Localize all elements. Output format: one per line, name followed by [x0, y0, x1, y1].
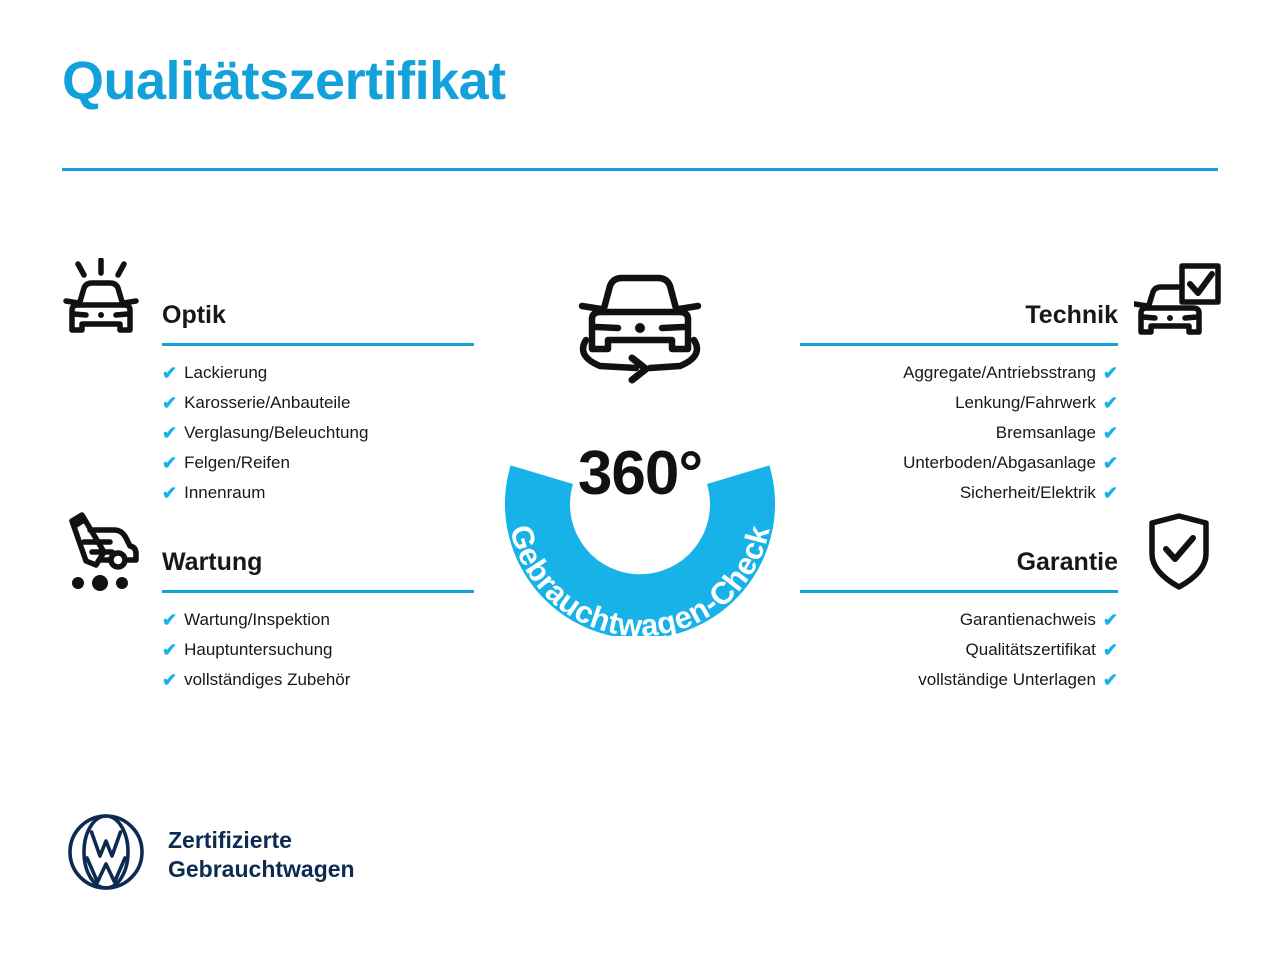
- title-divider: [62, 168, 1218, 171]
- section-title-garantie: Garantie: [800, 547, 1118, 577]
- car-front-lights-icon: [62, 258, 140, 349]
- page-title: Qualitätszertifikat: [62, 52, 506, 111]
- section-title-optik: Optik: [162, 300, 474, 330]
- list-item: Sicherheit/Elektrik✔: [800, 478, 1118, 508]
- list-item-label: Wartung/Inspektion: [184, 605, 330, 635]
- vw-logo: [66, 812, 146, 897]
- check-icon: ✔: [1103, 358, 1118, 388]
- check-icon: ✔: [162, 388, 177, 418]
- check-icon: ✔: [1103, 635, 1118, 665]
- check-icon: ✔: [1103, 448, 1118, 478]
- list-item-label: Garantienachweis: [960, 605, 1096, 635]
- check-icon: ✔: [162, 418, 177, 448]
- list-item: ✔Karosserie/Anbauteile: [162, 388, 474, 418]
- check-icon: ✔: [162, 635, 177, 665]
- section-technik: Technik Aggregate/Antriebsstrang✔ Lenkun…: [800, 300, 1118, 508]
- list-item: ✔Lackierung: [162, 358, 474, 388]
- check-icon: ✔: [1103, 665, 1118, 695]
- checklist-garantie: Garantienachweis✔ Qualitätszertifikat✔ v…: [800, 605, 1118, 695]
- list-item-label: Felgen/Reifen: [184, 448, 290, 478]
- list-item: vollständige Unterlagen✔: [800, 665, 1118, 695]
- car-checkbox-icon: [1134, 262, 1222, 347]
- list-item-label: Sicherheit/Elektrik: [960, 478, 1096, 508]
- list-item-label: vollständige Unterlagen: [918, 665, 1096, 695]
- section-wartung: Wartung ✔Wartung/Inspektion ✔Hauptunters…: [162, 547, 474, 695]
- checklist-technik: Aggregate/Antriebsstrang✔ Lenkung/Fahrwe…: [800, 358, 1118, 508]
- section-divider-garantie: [800, 590, 1118, 593]
- section-garantie: Garantie Garantienachweis✔ Qualitätszert…: [800, 547, 1118, 695]
- list-item: Bremsanlage✔: [800, 418, 1118, 448]
- badge-center-label: 360°: [468, 438, 812, 509]
- section-title-technik: Technik: [800, 300, 1118, 330]
- list-item-label: Hauptuntersuchung: [184, 635, 332, 665]
- check-icon: ✔: [162, 448, 177, 478]
- list-item: Lenkung/Fahrwerk✔: [800, 388, 1118, 418]
- badge-360-check: Gebrauchtwagen-Check 360°: [468, 252, 812, 636]
- section-header-wartung: Wartung: [162, 547, 474, 593]
- list-item: Aggregate/Antriebsstrang✔: [800, 358, 1118, 388]
- section-divider-optik: [162, 343, 474, 346]
- check-icon: ✔: [1103, 605, 1118, 635]
- section-title-wartung: Wartung: [162, 547, 474, 577]
- list-item-label: Qualitätszertifikat: [966, 635, 1096, 665]
- check-icon: ✔: [162, 665, 177, 695]
- check-icon: ✔: [162, 605, 177, 635]
- list-item-label: vollständiges Zubehör: [184, 665, 350, 695]
- footer-brand: Zertifizierte Gebrauchtwagen: [66, 812, 355, 897]
- pencil-car-service-icon: [60, 508, 148, 601]
- section-divider-technik: [800, 343, 1118, 346]
- list-item-label: Lackierung: [184, 358, 267, 388]
- list-item-label: Innenraum: [184, 478, 265, 508]
- list-item: ✔vollständiges Zubehör: [162, 665, 474, 695]
- section-header-optik: Optik: [162, 300, 474, 346]
- checklist-optik: ✔Lackierung ✔Karosserie/Anbauteile ✔Verg…: [162, 358, 474, 508]
- list-item-label: Aggregate/Antriebsstrang: [903, 358, 1096, 388]
- list-item: ✔Hauptuntersuchung: [162, 635, 474, 665]
- check-icon: ✔: [162, 478, 177, 508]
- section-header-garantie: Garantie: [800, 547, 1118, 593]
- list-item: ✔Innenraum: [162, 478, 474, 508]
- list-item: Unterboden/Abgasanlage✔: [800, 448, 1118, 478]
- check-icon: ✔: [1103, 388, 1118, 418]
- section-optik: Optik ✔Lackierung ✔Karosserie/Anbauteile…: [162, 300, 474, 508]
- section-divider-wartung: [162, 590, 474, 593]
- section-header-technik: Technik: [800, 300, 1118, 346]
- list-item: Garantienachweis✔: [800, 605, 1118, 635]
- checklist-wartung: ✔Wartung/Inspektion ✔Hauptuntersuchung ✔…: [162, 605, 474, 695]
- check-icon: ✔: [1103, 418, 1118, 448]
- list-item: ✔Felgen/Reifen: [162, 448, 474, 478]
- shield-check-icon: [1146, 512, 1212, 597]
- car-rotate-icon: [582, 278, 698, 380]
- list-item-label: Bremsanlage: [996, 418, 1096, 448]
- list-item-label: Karosserie/Anbauteile: [184, 388, 350, 418]
- list-item-label: Unterboden/Abgasanlage: [903, 448, 1096, 478]
- list-item: ✔Verglasung/Beleuchtung: [162, 418, 474, 448]
- list-item-label: Verglasung/Beleuchtung: [184, 418, 368, 448]
- list-item-label: Lenkung/Fahrwerk: [955, 388, 1096, 418]
- check-icon: ✔: [162, 358, 177, 388]
- list-item: ✔Wartung/Inspektion: [162, 605, 474, 635]
- footer-brand-text: Zertifizierte Gebrauchtwagen: [168, 826, 355, 884]
- check-icon: ✔: [1103, 478, 1118, 508]
- list-item: Qualitätszertifikat✔: [800, 635, 1118, 665]
